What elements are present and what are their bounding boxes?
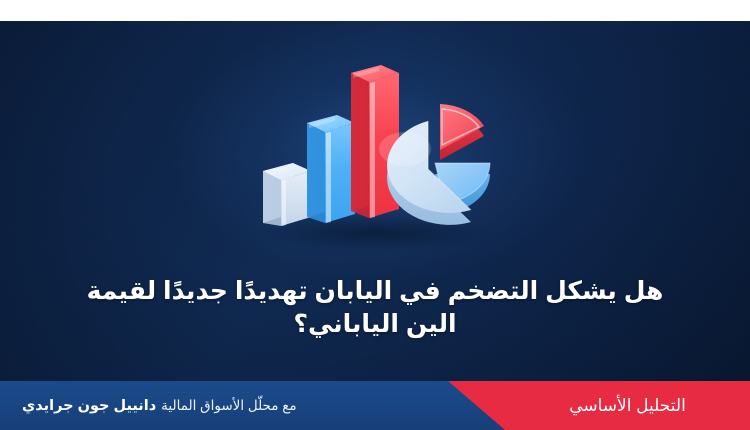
bar-small-cube <box>263 163 311 226</box>
page-title: هل يشكل التضخم في اليابان تهديدًا جديدًا… <box>60 275 690 342</box>
pie-slice-exploded-red <box>440 104 484 160</box>
byline-prefix: مع محلّل الأسواق المالية <box>161 398 296 414</box>
top-white-strip <box>0 0 750 21</box>
footer-bar: التحليل الأساسي مع محلّل الأسواق المالية… <box>0 381 750 430</box>
chart-illustration <box>245 51 510 251</box>
bar-medium-blue <box>307 115 355 223</box>
analyst-byline: مع محلّل الأسواق المالية دانييل جون جراي… <box>22 381 297 430</box>
analyst-name: دانييل جون جرايدي <box>22 398 156 414</box>
fundamental-analysis-card: هل يشكل التضخم في اليابان تهديدًا جديدًا… <box>0 0 750 430</box>
category-badge: التحليل الأساسي <box>505 381 750 430</box>
